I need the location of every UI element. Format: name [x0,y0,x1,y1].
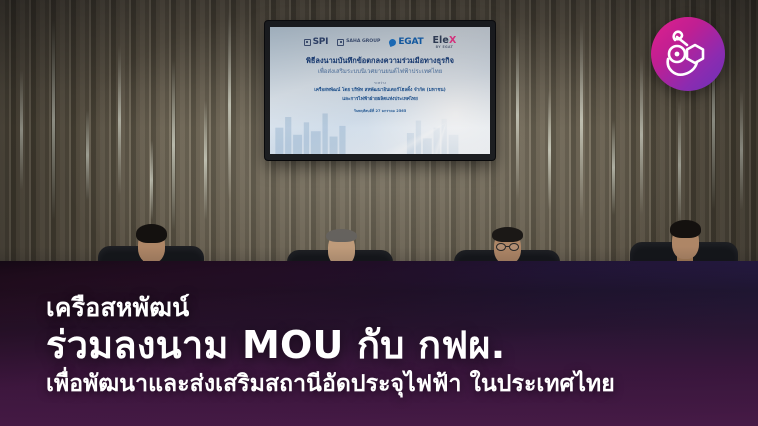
news-banner: SPI SAHA GROUP EGAT [0,0,758,426]
egat-logo-text: EGAT [398,37,423,47]
slide-subtitle: เพื่อส่งเสริมระบบนิเวศยานยนต์ไฟฟ้าประเทศ… [280,67,480,76]
slide-title: พิธีลงนามบันทึกข้อตกลงความร่วมมือทางธุรก… [280,56,480,67]
headline-block: เครือสหพัฒน์ ร่วมลงนาม MOU กับ กฟผ. เพื่… [46,293,742,400]
slide-content: SPI SAHA GROUP EGAT [270,27,490,114]
brand-badge[interactable] [651,17,725,91]
slide-logo-row: SPI SAHA GROUP EGAT [280,36,480,49]
saha-logo-mark [337,39,344,46]
spi-logo: SPI [304,37,329,47]
slide-between-label: ระหว่าง [280,80,480,86]
saha-group-logo: SAHA GROUP [337,39,380,46]
egat-logo: EGAT [389,37,423,47]
slide-org-line-1: เครือสหพัฒน์ โดย บริษัท สหพัฒนาอินเตอร์โ… [280,87,480,94]
egat-swoosh-icon [388,38,397,47]
elex-logo: EleX BY EGAT [432,36,456,49]
slide-org-line-2: และการไฟฟ้าฝ่ายผลิตแห่งประเทศไทย [280,96,480,103]
saha-logo-line2: GROUP [362,39,380,44]
spi-logo-mark [304,39,311,46]
slide-date: วันพฤหัสบดีที่ 27 มกราคม 2565 [280,108,480,114]
headline-line-2: ร่วมลงนาม MOU กับ กฟผ. [46,322,742,368]
saha-logo-line1: SAHA [346,39,360,44]
robot-face-icon [651,17,725,91]
headline-line-3: เพื่อพัฒนาและส่งเสริมสถานีอัดประจุไฟฟ้า … [46,370,742,400]
elex-logo-text: EleX BY EGAT [432,36,456,49]
elex-logo-sub: BY EGAT [432,46,456,49]
headline-line-1: เครือสหพัฒน์ [46,293,742,323]
saha-logo-text: SAHA GROUP [346,40,380,45]
spi-logo-text: SPI [313,37,329,47]
